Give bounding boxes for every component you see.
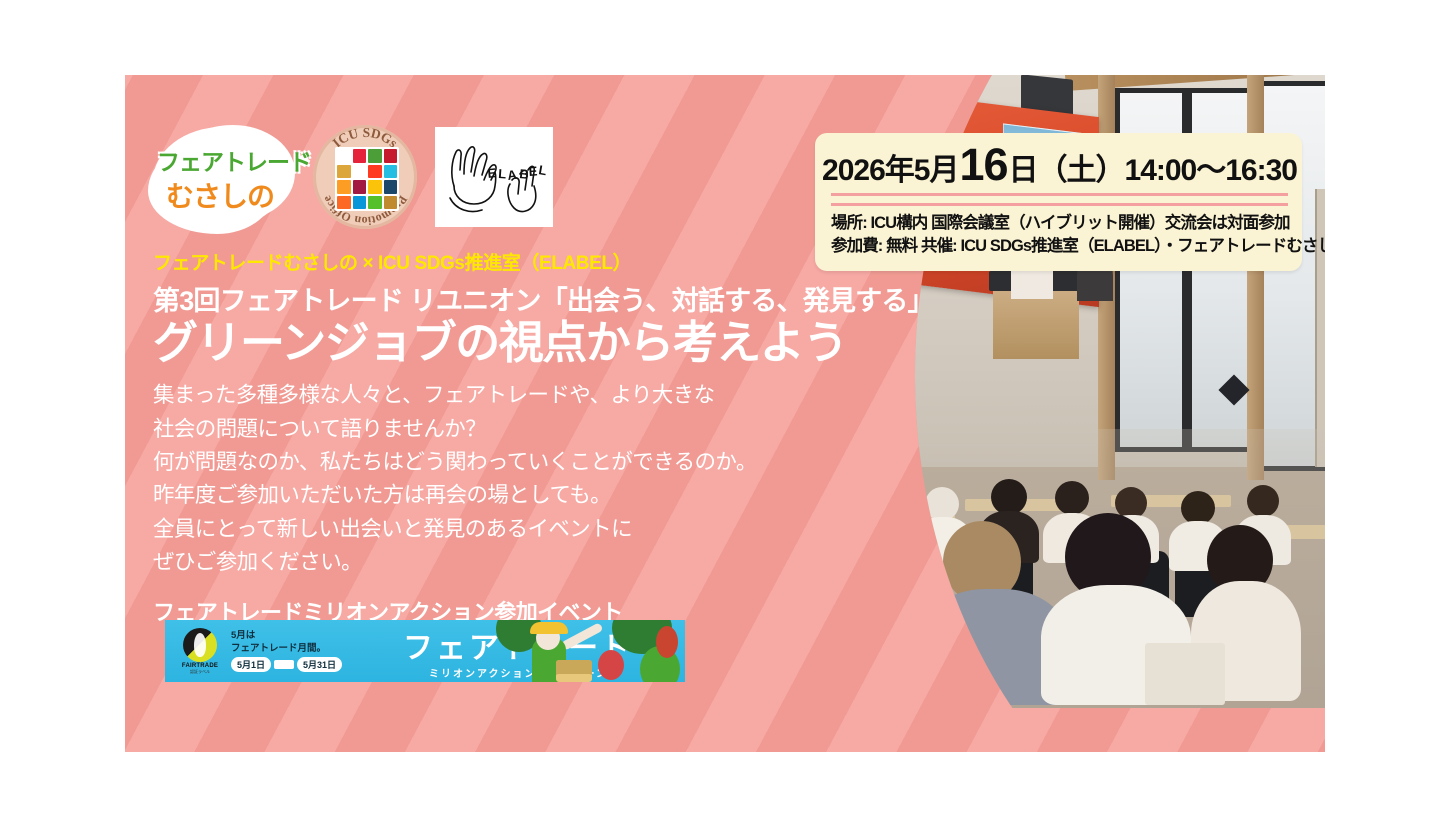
fairtrade-mark-label: FAIRTRADE [177, 663, 223, 669]
sdg-color-grid-icon [335, 147, 399, 211]
event-venue-line: 場所: ICU構内 国際会議室（ハイブリット開催）交流会は対面参加 [831, 212, 1288, 235]
farmer-hat [530, 622, 568, 634]
elabel-logo: E L A B E L [435, 127, 553, 227]
description-line: 社会の問題について語りませんか？ [153, 413, 883, 446]
photo-audience-area [815, 429, 1325, 708]
fairtrade-month-note-line2: フェアトレード月間。 [231, 643, 342, 656]
info-card-divider [831, 193, 1288, 206]
event-date-prefix: 2026年5月 [822, 156, 958, 186]
fairtrade-month-note: 5月は フェアトレード月間。 5月1日 5月31日 [231, 630, 342, 673]
fairtrade-mark-sublabel: 認証ラベル [177, 669, 223, 675]
partner-logos: フェアトレード むさしの ICU SDGs P [145, 123, 553, 231]
fairtrade-musashino-logo-line1: フェアトレード [157, 143, 283, 177]
fairtrade-date-to: 5月31日 [297, 657, 342, 672]
fairtrade-date-range: 5月1日 5月31日 [231, 657, 342, 672]
description-line: 何が問題なのか、私たちはどう関わっていくことができるのか。 [153, 446, 883, 479]
svg-text:L: L [537, 162, 547, 178]
fairtrade-musashino-logo: フェアトレード むさしの [145, 123, 295, 231]
elabel-hands-icon: E L A B E L [440, 134, 548, 220]
description-line: 全員にとって新しい出会いと発見のあるイベントに [153, 513, 883, 546]
description-line: ぜひご参加ください。 [153, 546, 883, 579]
fairtrade-month-note-line1: 5月は [231, 630, 342, 643]
campaign-illustration [490, 620, 685, 682]
icu-sdgs-seal-logo: ICU SDGs Promotion Office [313, 125, 417, 229]
fairtrade-date-from: 5月1日 [231, 657, 271, 672]
fairtrade-million-action-banner[interactable]: FAIRTRADE 認証ラベル 5月は フェアトレード月間。 5月1日 5月31… [165, 620, 685, 682]
photo-door [1315, 189, 1325, 468]
svg-text:A: A [506, 167, 518, 183]
farmer-basket [556, 660, 592, 682]
fairtrade-mark-logo: FAIRTRADE 認証ラベル [177, 628, 223, 675]
fairtrade-seal-icon [183, 628, 217, 662]
event-fee-line: 参加費: 無料 共催: ICU SDGs推進室（ELABEL）・フェアトレードむ… [831, 235, 1288, 258]
poster-text-column: フェアトレードむさしの × ICU SDGs推進室（ELABEL） 第3回フェア… [153, 253, 883, 627]
description-paragraph: 集まった多種多様な人々と、フェアトレードや、より大きな 社会の問題について語りま… [153, 379, 883, 579]
event-poster: フェアトレード むさしの ICU SDGs P [125, 75, 1325, 752]
page-title-line2: グリーンジョブの視点から考えよう [153, 318, 883, 368]
poster-stage: フェアトレード むさしの ICU SDGs P [0, 0, 1450, 820]
page-title-line1: 第3回フェアトレード リユニオン「出会う、対話する、発見する」 [153, 286, 883, 317]
event-info-card: 2026年5月 16 日（土）14:00〜16:30 場所: ICU構内 国際会… [815, 133, 1302, 271]
fairtrade-musashino-logo-line2: むさしの [157, 175, 283, 215]
event-date-day: 16 [959, 145, 1007, 186]
description-line: 集まった多種多様な人々と、フェアトレードや、より大きな [153, 379, 883, 412]
event-date-heading: 2026年5月 16 日（土）14:00〜16:30 [831, 145, 1288, 186]
organizer-kicker: フェアトレードむさしの × ICU SDGs推進室（ELABEL） [153, 253, 883, 276]
event-date-suffix: 日（土）14:00〜16:30 [1009, 156, 1297, 186]
date-range-connector-icon [274, 660, 294, 669]
description-line: 昨年度ご参加いただいた方は再会の場としても。 [153, 479, 883, 512]
